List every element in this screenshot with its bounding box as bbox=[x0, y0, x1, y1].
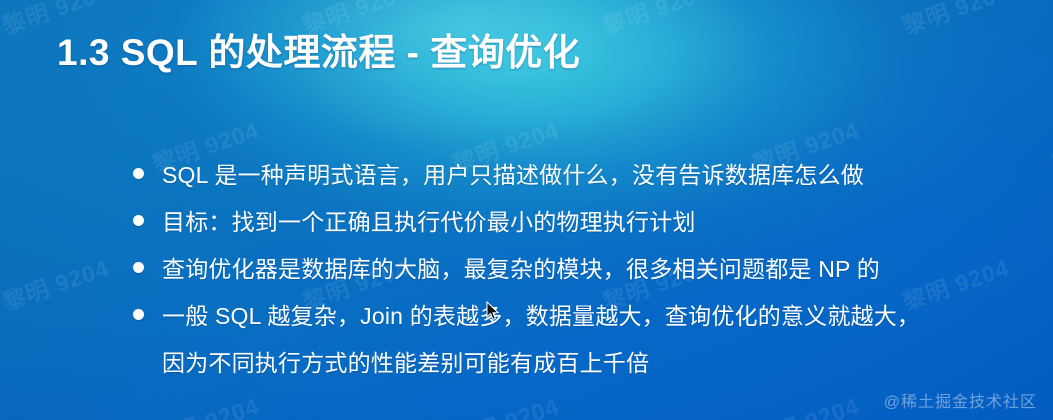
list-item: 目标：找到一个正确且执行代价最小的物理执行计划 bbox=[128, 199, 1033, 246]
bullet-text: 目标：找到一个正确且执行代价最小的物理执行计划 bbox=[162, 199, 1033, 246]
slide-bullet-list: SQL 是一种声明式语言，用户只描述做什么，没有告诉数据库怎么做 目标：找到一个… bbox=[128, 152, 1033, 387]
brand-watermark: @稀土掘金技术社区 bbox=[884, 388, 1037, 412]
bullet-text-continuation: 因为不同执行方式的性能差别可能有成百上千倍 bbox=[162, 340, 1033, 387]
list-item: SQL 是一种声明式语言，用户只描述做什么，没有告诉数据库怎么做 bbox=[128, 152, 1033, 199]
bullet-marker-icon bbox=[133, 215, 144, 226]
bullet-text: 查询优化器是数据库的大脑，最复杂的模块，很多相关问题都是 NP 的 bbox=[162, 246, 1033, 293]
list-item: 查询优化器是数据库的大脑，最复杂的模块，很多相关问题都是 NP 的 bbox=[128, 246, 1033, 293]
bullet-marker-icon bbox=[133, 262, 144, 273]
presentation-slide: 黎明 9204黎明 9204黎明 9204黎明 9204黎明 9204黎明 92… bbox=[0, 0, 1053, 420]
slide-title: 1.3 SQL 的处理流程 - 查询优化 bbox=[57, 22, 580, 76]
bullet-text: 一般 SQL 越复杂，Join 的表越多，数据量越大，查询优化的意义就越大， bbox=[162, 293, 1033, 340]
list-item: 一般 SQL 越复杂，Join 的表越多，数据量越大，查询优化的意义就越大， 因… bbox=[128, 293, 1033, 387]
bullet-marker-icon bbox=[133, 168, 144, 179]
bullet-marker-icon bbox=[133, 309, 144, 320]
bullet-text: SQL 是一种声明式语言，用户只描述做什么，没有告诉数据库怎么做 bbox=[162, 152, 1033, 199]
